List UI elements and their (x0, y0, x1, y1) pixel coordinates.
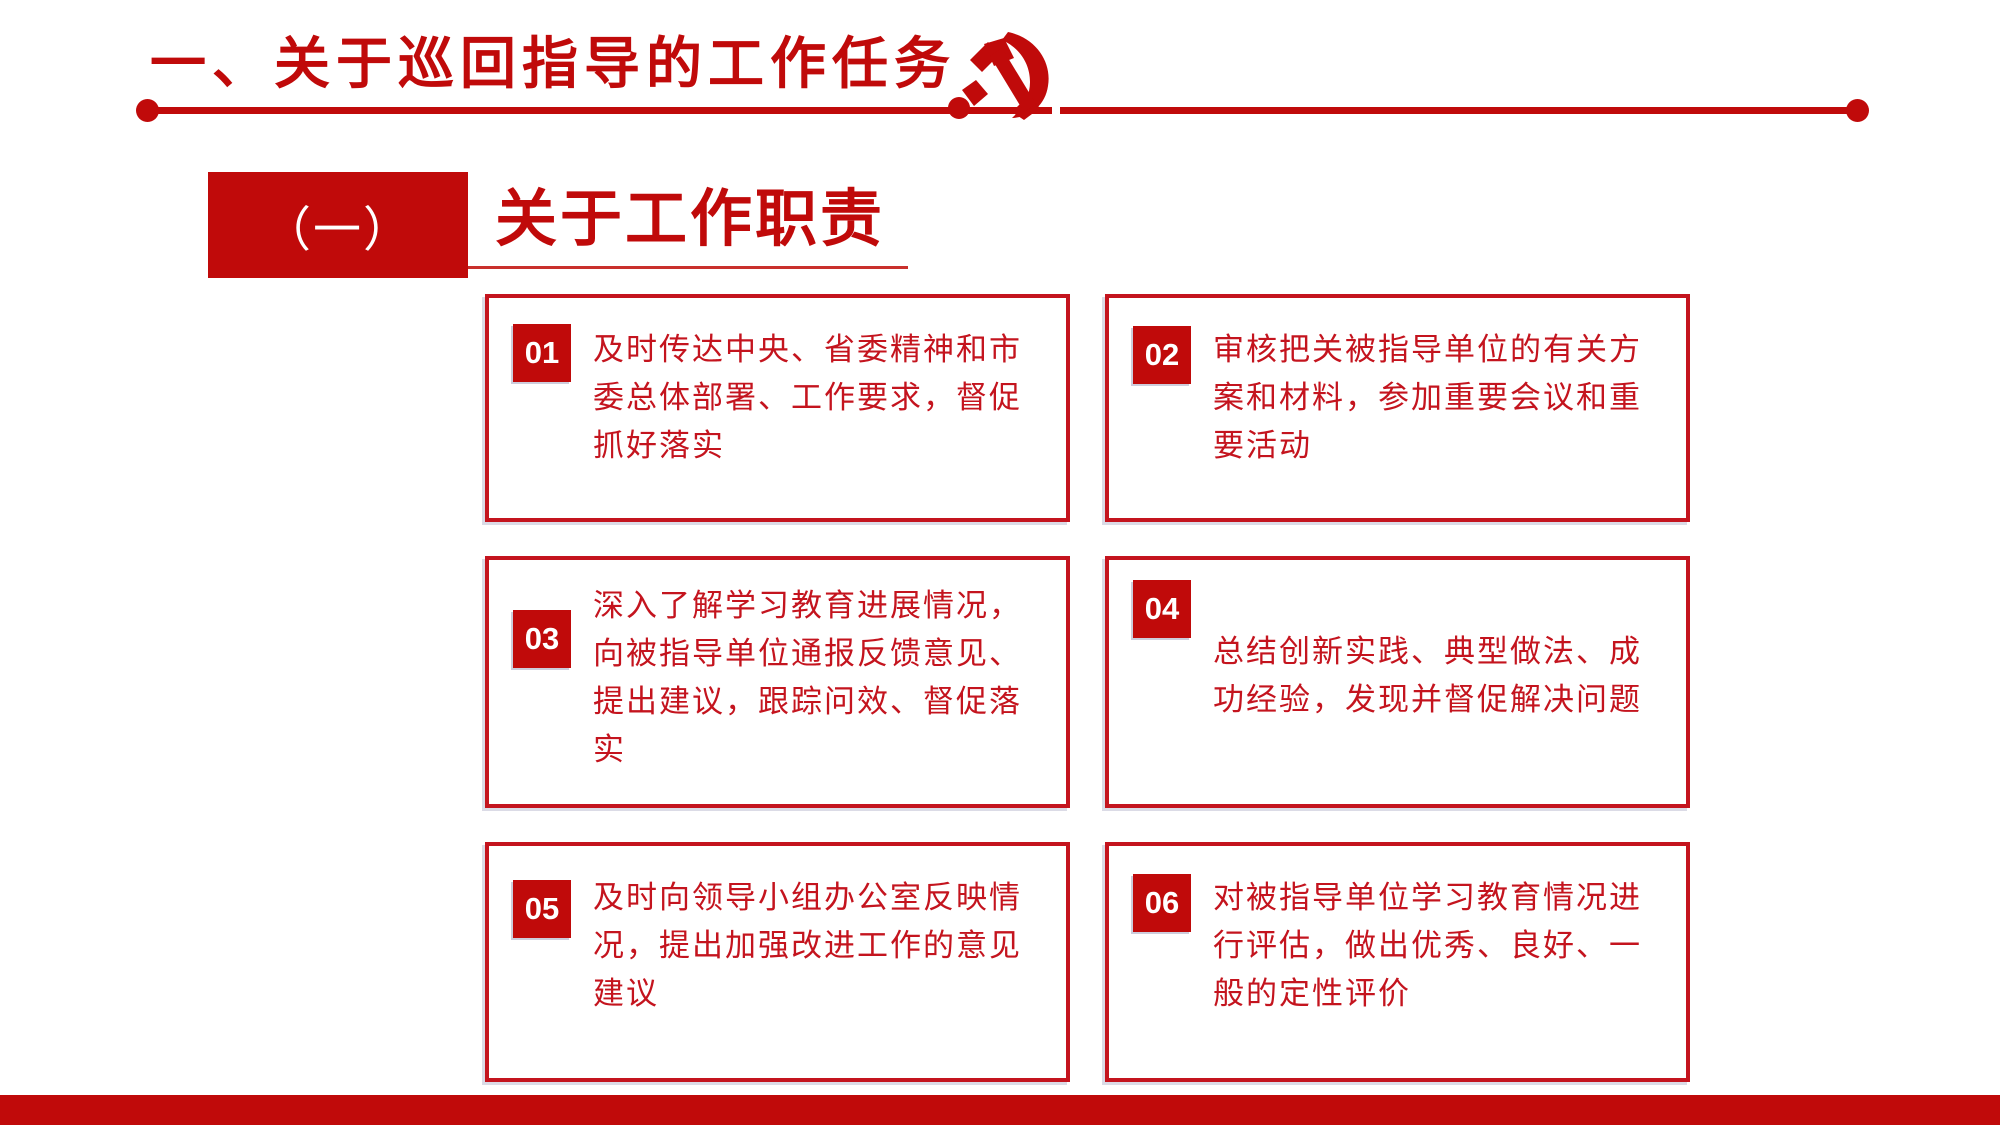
duty-card-number: 04 (1133, 580, 1191, 638)
duty-card[interactable]: 06 对被指导单位学习教育情况进行评估，做出优秀、良好、一般的定性评价 (1105, 842, 1690, 1082)
slide-header: 一、关于巡回指导的工作任务 (0, 0, 2000, 140)
duty-card-number: 02 (1133, 326, 1191, 384)
duty-card[interactable]: 03 深入了解学习教育进展情况，向被指导单位通报反馈意见、提出建议，跟踪问效、督… (485, 556, 1070, 808)
header-rule-left (147, 107, 1052, 114)
duty-card-text: 深入了解学习教育进展情况，向被指导单位通报反馈意见、提出建议，跟踪问效、督促落实 (593, 582, 1040, 774)
header-rule-right (1060, 107, 1860, 114)
duty-card[interactable]: 01 及时传达中央、省委精神和市委总体部署、工作要求，督促抓好落实 (485, 294, 1070, 522)
duty-card[interactable]: 04 总结创新实践、典型做法、成功经验，发现并督促解决问题 (1105, 556, 1690, 808)
duty-card-text: 及时传达中央、省委精神和市委总体部署、工作要求，督促抓好落实 (593, 326, 1040, 470)
duty-card-number: 06 (1133, 874, 1191, 932)
duty-card-number: 03 (513, 610, 571, 668)
page-title: 一、关于巡回指导的工作任务 (150, 28, 956, 100)
party-emblem-icon (940, 28, 1060, 120)
header-rule-dot-right (1846, 99, 1869, 122)
duty-card-number: 05 (513, 880, 571, 938)
footer-bar (0, 1095, 2000, 1125)
duty-card-text: 及时向领导小组办公室反映情况，提出加强改进工作的意见建议 (593, 874, 1040, 1018)
duty-card[interactable]: 05 及时向领导小组办公室反映情况，提出加强改进工作的意见建议 (485, 842, 1070, 1082)
duty-card-text: 对被指导单位学习教育情况进行评估，做出优秀、良好、一般的定性评价 (1213, 874, 1660, 1018)
duty-card-text: 审核把关被指导单位的有关方案和材料，参加重要会议和重要活动 (1213, 326, 1660, 470)
section-title-underline (468, 266, 908, 269)
duty-card[interactable]: 02 审核把关被指导单位的有关方案和材料，参加重要会议和重要活动 (1105, 294, 1690, 522)
section-title: 关于工作职责 (495, 180, 885, 260)
duty-card-text: 总结创新实践、典型做法、成功经验，发现并督促解决问题 (1213, 628, 1660, 724)
duty-card-grid: 01 及时传达中央、省委精神和市委总体部署、工作要求，督促抓好落实 02 审核把… (485, 294, 1730, 1054)
duty-card-number: 01 (513, 324, 571, 382)
section-number-badge: （一） (208, 172, 468, 278)
